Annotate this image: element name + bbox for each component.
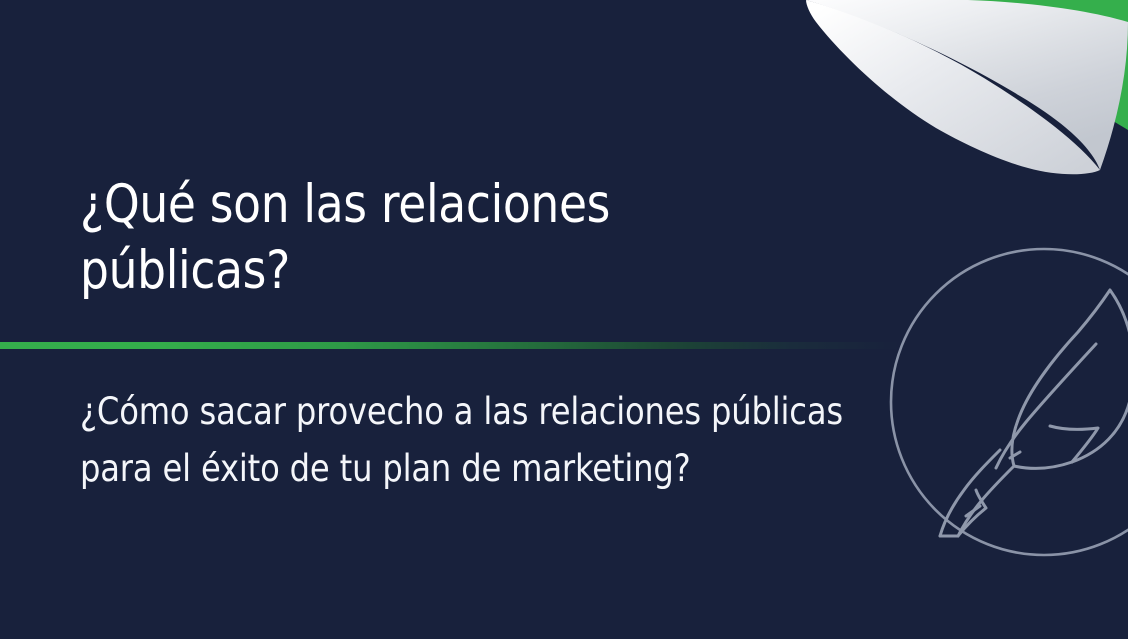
text-content: ¿Qué son las relaciones públicas? ¿Cómo … <box>80 0 880 639</box>
quill-feather-logo-icon <box>886 244 1128 560</box>
page-title: ¿Qué son las relaciones públicas? <box>80 172 759 304</box>
page-subtitle: ¿Cómo sacar provecho a las relaciones pú… <box>80 383 863 497</box>
slide-canvas: ¿Qué son las relaciones públicas? ¿Cómo … <box>0 0 1128 639</box>
